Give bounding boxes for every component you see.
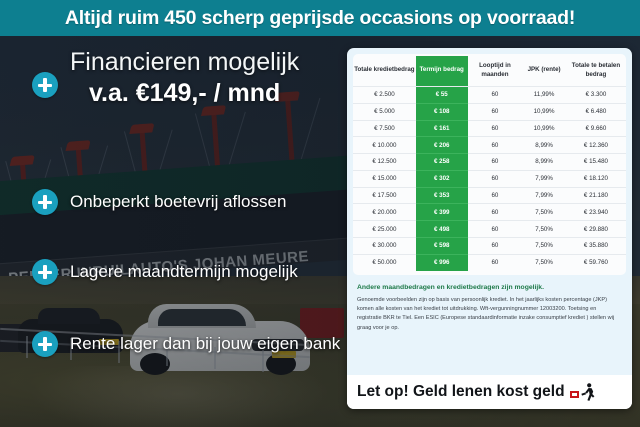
promo-banner-text: Altijd ruim 450 scherp geprijsde occasio…: [65, 7, 575, 30]
table-cell-r10-c4: € 59.760: [566, 254, 626, 270]
benefit-item-1-label: Onbeperkt boetevrij aflossen: [70, 192, 286, 212]
table-header-cell-2: Looptijd in maanden: [468, 56, 523, 86]
table-cell-r7-c4: € 23.940: [566, 204, 626, 221]
plus-icon: [32, 331, 58, 357]
table-cell-r7-c3: 7,50%: [522, 204, 566, 221]
table-head: Totale kredietbedragTermijn bedragLoopti…: [353, 56, 626, 86]
table-cell-r1-c3: 10,99%: [522, 103, 566, 120]
table-cell-r5-c3: 7,99%: [522, 170, 566, 187]
table-cell-r8-c2: 60: [468, 221, 523, 238]
table-cell-r3-c4: € 12.360: [566, 137, 626, 154]
table-cell-r7-c0: € 20.000: [353, 204, 416, 221]
table-cell-r2-c2: 60: [468, 120, 523, 137]
table-row: € 12.500€ 258608,99%€ 15.480: [353, 154, 626, 171]
table-header-cell-1: Termijn bedrag: [416, 56, 468, 86]
table-row: € 7.500€ 1616010,99%€ 9.660: [353, 120, 626, 137]
table-cell-r0-c0: € 2.500: [353, 86, 416, 103]
table-row: € 5.000€ 1086010,99%€ 6.480: [353, 103, 626, 120]
table-cell-r10-c3: 7,50%: [522, 254, 566, 270]
table-cell-r6-c4: € 21.180: [566, 187, 626, 204]
table-cell-r2-c4: € 9.660: [566, 120, 626, 137]
table-header-cell-0: Totale kredietbedrag: [353, 56, 416, 86]
table-cell-r1-c1: € 108: [416, 103, 468, 120]
table-row: € 15.000€ 302607,99%€ 18.120: [353, 170, 626, 187]
table-cell-r8-c0: € 25.000: [353, 221, 416, 238]
table-cell-r0-c3: 11,99%: [522, 86, 566, 103]
table-cell-r9-c1: € 598: [416, 238, 468, 255]
running-man-icon: [570, 382, 596, 402]
table-cell-r1-c4: € 6.480: [566, 103, 626, 120]
table-header-cell-3: JPK (rente): [522, 56, 566, 86]
table-cell-r9-c2: 60: [468, 238, 523, 255]
table-cell-r8-c4: € 29.880: [566, 221, 626, 238]
benefit-item-2-label: Lagere maandtermijn mogelijk: [70, 262, 298, 282]
table-cell-r2-c3: 10,99%: [522, 120, 566, 137]
financing-table: Totale kredietbedragTermijn bedragLoopti…: [353, 56, 626, 271]
table-row: € 30.000€ 598607,50%€ 35.880: [353, 238, 626, 255]
note-body: Genoemde voorbeelden zijn op basis van p…: [357, 296, 622, 332]
table-cell-r1-c0: € 5.000: [353, 103, 416, 120]
warning-text: Let op! Geld lenen kost geld: [357, 383, 565, 401]
table-cell-r2-c1: € 161: [416, 120, 468, 137]
benefits-list: Financieren mogelijk v.a. €149,- / mnd O…: [0, 36, 345, 427]
table-row: € 50.000€ 996607,50%€ 59.760: [353, 254, 626, 270]
table-cell-r8-c1: € 498: [416, 221, 468, 238]
table-row: € 2.500€ 556011,99%€ 3.300: [353, 86, 626, 103]
table-cell-r4-c2: 60: [468, 154, 523, 171]
table-cell-r6-c2: 60: [468, 187, 523, 204]
table-cell-r5-c1: € 302: [416, 170, 468, 187]
table-cell-r9-c3: 7,50%: [522, 238, 566, 255]
table-cell-r5-c0: € 15.000: [353, 170, 416, 187]
table-row: € 20.000€ 399607,50%€ 23.940: [353, 204, 626, 221]
benefit-item-3: Rente lager dan bij jouw eigen bank: [32, 331, 340, 357]
headline-line-1: Financieren mogelijk: [70, 48, 299, 77]
financing-table-container: Totale kredietbedragTermijn bedragLoopti…: [353, 54, 626, 275]
headline-line-2: v.a. €149,- / mnd: [70, 79, 299, 108]
table-cell-r3-c3: 8,99%: [522, 137, 566, 154]
table-header-cell-4: Totale te betalen bedrag: [566, 56, 626, 86]
table-cell-r1-c2: 60: [468, 103, 523, 120]
table-cell-r0-c2: 60: [468, 86, 523, 103]
table-cell-r3-c2: 60: [468, 137, 523, 154]
benefit-item-3-label: Rente lager dan bij jouw eigen bank: [70, 334, 340, 354]
plus-icon: [32, 259, 58, 285]
warning-bar: Let op! Geld lenen kost geld: [347, 375, 632, 409]
table-header-row: Totale kredietbedragTermijn bedragLoopti…: [353, 56, 626, 86]
table-cell-r4-c1: € 258: [416, 154, 468, 171]
table-cell-r6-c1: € 353: [416, 187, 468, 204]
table-cell-r8-c3: 7,50%: [522, 221, 566, 238]
table-cell-r4-c4: € 15.480: [566, 154, 626, 171]
table-cell-r4-c0: € 12.500: [353, 154, 416, 171]
benefit-headline: Financieren mogelijk v.a. €149,- / mnd: [32, 48, 299, 108]
table-cell-r9-c4: € 35.880: [566, 238, 626, 255]
table-cell-r5-c2: 60: [468, 170, 523, 187]
table-cell-r10-c1: € 996: [416, 254, 468, 270]
table-cell-r4-c3: 8,99%: [522, 154, 566, 171]
plus-icon: [32, 189, 58, 215]
table-row: € 10.000€ 206608,99%€ 12.360: [353, 137, 626, 154]
table-row: € 17.500€ 353607,99%€ 21.180: [353, 187, 626, 204]
table-cell-r3-c0: € 10.000: [353, 137, 416, 154]
table-cell-r7-c2: 60: [468, 204, 523, 221]
table-cell-r9-c0: € 30.000: [353, 238, 416, 255]
table-cell-r10-c2: 60: [468, 254, 523, 270]
table-cell-r6-c0: € 17.500: [353, 187, 416, 204]
table-cell-r5-c4: € 18.120: [566, 170, 626, 187]
table-cell-r7-c1: € 399: [416, 204, 468, 221]
table-row: € 25.000€ 498607,50%€ 29.880: [353, 221, 626, 238]
benefit-item-2: Lagere maandtermijn mogelijk: [32, 259, 298, 285]
note-title: Andere maandbedragen en kredietbedragen …: [357, 284, 622, 293]
table-body: € 2.500€ 556011,99%€ 3.300€ 5.000€ 10860…: [353, 86, 626, 270]
table-cell-r6-c3: 7,99%: [522, 187, 566, 204]
plus-icon: [32, 72, 58, 98]
table-cell-r10-c0: € 50.000: [353, 254, 416, 270]
benefit-item-1: Onbeperkt boetevrij aflossen: [32, 189, 286, 215]
table-cell-r3-c1: € 206: [416, 137, 468, 154]
table-cell-r2-c0: € 7.500: [353, 120, 416, 137]
financing-card: Totale kredietbedragTermijn bedragLoopti…: [347, 48, 632, 409]
table-cell-r0-c1: € 55: [416, 86, 468, 103]
promo-banner: Altijd ruim 450 scherp geprijsde occasio…: [0, 0, 640, 36]
table-cell-r0-c4: € 3.300: [566, 86, 626, 103]
